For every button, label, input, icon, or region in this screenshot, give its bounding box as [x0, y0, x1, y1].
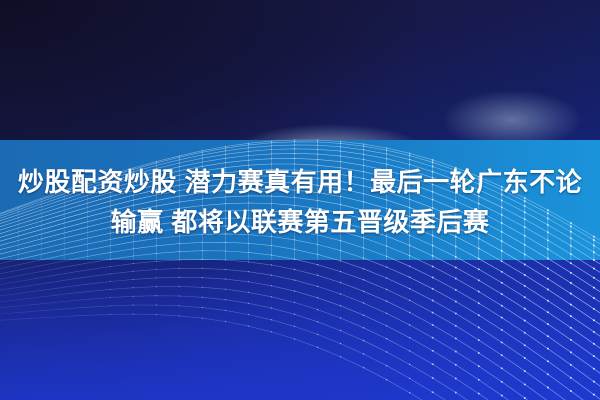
promo-banner: 炒股配资炒股 潜力赛真有用！最后一轮广东不论 输赢 都将以联赛第五晋级季后赛 — [0, 0, 600, 400]
headline-line-2: 输赢 都将以联赛第五晋级季后赛 — [0, 202, 600, 242]
headline-line-1: 炒股配资炒股 潜力赛真有用！最后一轮广东不论 — [0, 162, 600, 202]
headline: 炒股配资炒股 潜力赛真有用！最后一轮广东不论 输赢 都将以联赛第五晋级季后赛 — [0, 162, 600, 242]
